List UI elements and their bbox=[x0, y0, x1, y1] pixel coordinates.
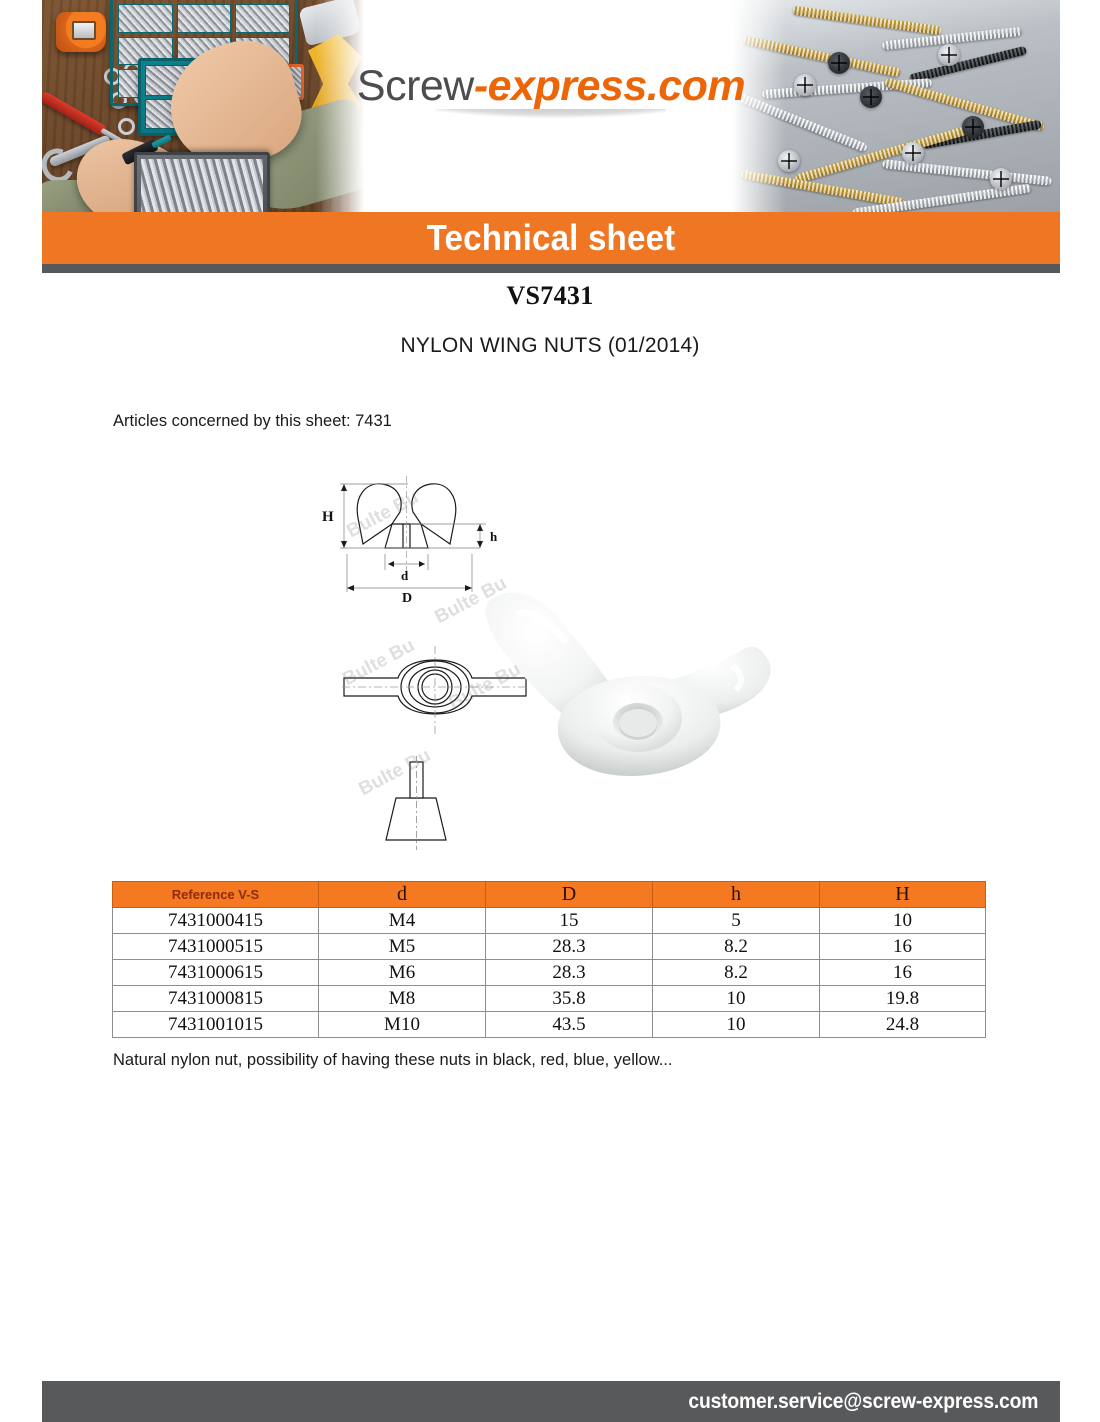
cell-D: 35.8 bbox=[486, 986, 653, 1012]
cell-d: M10 bbox=[319, 1012, 486, 1038]
cell-D: 28.3 bbox=[486, 934, 653, 960]
cell-h: 10 bbox=[653, 986, 820, 1012]
contact-email[interactable]: customer.service@screw-express.com bbox=[688, 1390, 1038, 1414]
section-view-drawing bbox=[352, 754, 492, 854]
cell-D: 28.3 bbox=[486, 960, 653, 986]
page-footer: customer.service@screw-express.com bbox=[42, 1381, 1060, 1422]
cell-d: M5 bbox=[319, 934, 486, 960]
cell-reference: 7431000515 bbox=[113, 934, 319, 960]
dimension-label-H: H bbox=[322, 509, 334, 525]
tape-measure-icon bbox=[56, 12, 106, 52]
dimension-label-h: h bbox=[490, 529, 498, 544]
specification-table: Reference V-S d D h H 7431000415 M4 15 5… bbox=[112, 881, 986, 1038]
articles-concerned-line: Articles concerned by this sheet: 7431 bbox=[113, 412, 392, 431]
dimension-label-D: D bbox=[402, 591, 412, 602]
logo-text-secondary: -express.com bbox=[474, 62, 745, 110]
cell-d: M6 bbox=[319, 960, 486, 986]
table-row: 7431000615 M6 28.3 8.2 16 bbox=[113, 960, 986, 986]
cell-reference: 7431000415 bbox=[113, 908, 319, 934]
cell-H: 19.8 bbox=[820, 986, 986, 1012]
cell-reference: 7431001015 bbox=[113, 1012, 319, 1038]
technical-sheet-page: Screw-express.com Technical sheet VS7431… bbox=[0, 0, 1100, 1422]
table-row: 7431000515 M5 28.3 8.2 16 bbox=[113, 934, 986, 960]
cell-h: 10 bbox=[653, 1012, 820, 1038]
cell-h: 8.2 bbox=[653, 960, 820, 986]
dimension-label-d: d bbox=[401, 568, 409, 583]
cell-H: 10 bbox=[820, 908, 986, 934]
table-row: 7431000815 M8 35.8 10 19.8 bbox=[113, 986, 986, 1012]
material-note: Natural nylon nut, possibility of having… bbox=[113, 1051, 672, 1070]
table-row: 7431000415 M4 15 5 10 bbox=[113, 908, 986, 934]
nylon-wing-nut-photo bbox=[480, 580, 780, 795]
logo-text-primary: Screw bbox=[357, 62, 474, 110]
cell-H: 24.8 bbox=[820, 1012, 986, 1038]
cell-H: 16 bbox=[820, 934, 986, 960]
cell-H: 16 bbox=[820, 960, 986, 986]
page-header: Screw-express.com bbox=[42, 0, 1060, 212]
nail-tray bbox=[134, 152, 270, 212]
cell-d: M8 bbox=[319, 986, 486, 1012]
column-header-h: h bbox=[653, 882, 820, 908]
technical-sheet-banner: Technical sheet bbox=[42, 212, 1060, 264]
banner-underline-bar bbox=[42, 264, 1060, 273]
column-header-d: d bbox=[319, 882, 486, 908]
document-code: VS7431 bbox=[0, 281, 1100, 311]
logo-swoosh-icon bbox=[436, 109, 666, 135]
cell-h: 5 bbox=[653, 908, 820, 934]
cell-reference: 7431000615 bbox=[113, 960, 319, 986]
workbench-photo bbox=[42, 0, 364, 212]
column-header-reference: Reference V-S bbox=[113, 882, 319, 908]
cell-D: 15 bbox=[486, 908, 653, 934]
cell-reference: 7431000815 bbox=[113, 986, 319, 1012]
table-row: 7431001015 M10 43.5 10 24.8 bbox=[113, 1012, 986, 1038]
product-illustrations: H h d D bbox=[300, 462, 820, 847]
column-header-H: H bbox=[820, 882, 986, 908]
cell-D: 43.5 bbox=[486, 1012, 653, 1038]
banner-title: Technical sheet bbox=[83, 212, 1020, 264]
brand-logo: Screw-express.com bbox=[357, 62, 745, 135]
document-subtitle: NYLON WING NUTS (01/2014) bbox=[0, 334, 1100, 358]
screw-pile-photo bbox=[732, 0, 1060, 212]
cell-d: M4 bbox=[319, 908, 486, 934]
cell-h: 8.2 bbox=[653, 934, 820, 960]
table-header-row: Reference V-S d D h H bbox=[113, 882, 986, 908]
column-header-D: D bbox=[486, 882, 653, 908]
